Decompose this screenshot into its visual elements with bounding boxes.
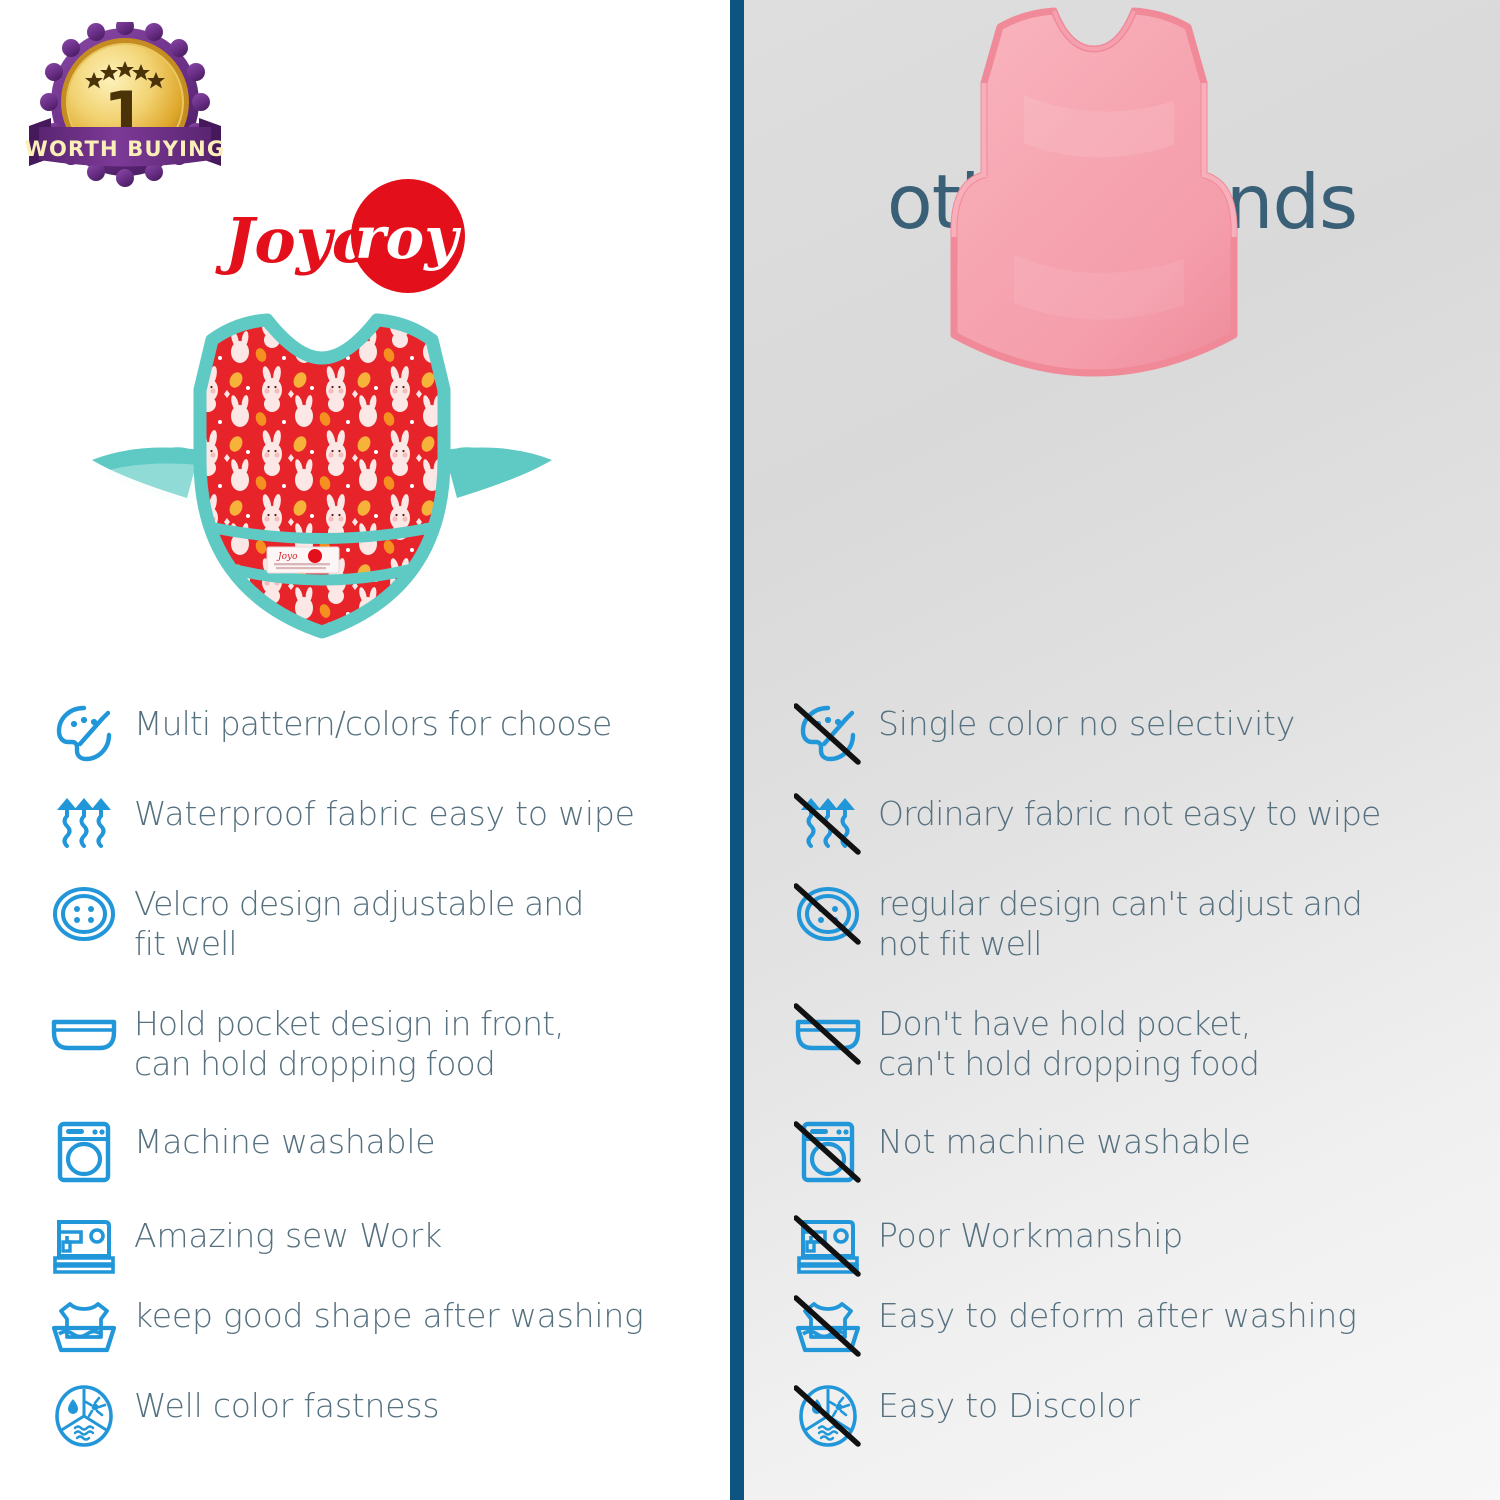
feature-label: Easy to deform after washing [878, 1292, 1357, 1336]
sewing-machine-icon [50, 1212, 118, 1280]
feature-label: Don't have hold pocket, can't hold dropp… [878, 1000, 1259, 1085]
feature-label: Velcro design adjustable and fit well [134, 880, 583, 965]
washing-machine-icon [50, 1118, 118, 1186]
feature-row: Poor Workmanship [794, 1212, 1486, 1280]
feature-label: Not machine washable [878, 1118, 1251, 1162]
svg-text:Joyo: Joyo [276, 552, 298, 562]
pocket-tray-icon [794, 1000, 862, 1068]
feature-row: Velcro design adjustable and fit well [50, 880, 716, 965]
feature-row: Single color no selectivity [794, 700, 1486, 768]
feature-label: Hold pocket design in front, can hold dr… [134, 1000, 564, 1085]
joyo-roy-logo: Joyo roy [215, 178, 470, 298]
feature-row: Well color fastness [50, 1382, 716, 1450]
color-fastness-icon [50, 1382, 118, 1450]
feature-row: Amazing sew Work [50, 1212, 716, 1280]
feature-label: Single color no selectivity [878, 700, 1295, 744]
sewing-machine-icon [794, 1212, 862, 1280]
button-velcro-icon [50, 880, 118, 948]
feature-label: Machine washable [134, 1118, 435, 1162]
feature-row: Ordinary fabric not easy to wipe [794, 790, 1486, 858]
shirt-in-basin-icon [794, 1292, 862, 1360]
pocket-tray-icon [50, 1000, 118, 1068]
bib-brand-label: Joyo [267, 547, 339, 573]
shirt-in-basin-icon [50, 1292, 118, 1360]
badge-ribbon-label: WORTH BUYING [25, 137, 225, 161]
feature-label: Easy to Discolor [878, 1382, 1140, 1426]
waterproof-steam-icon [794, 790, 862, 858]
logo-script-joyo: Joyo [215, 204, 373, 277]
feature-row: Hold pocket design in front, can hold dr… [50, 1000, 716, 1085]
feature-row: Multi pattern/colors for choose [50, 700, 716, 768]
feature-row: Don't have hold pocket, can't hold dropp… [794, 1000, 1486, 1085]
feature-label: Well color fastness [134, 1382, 439, 1426]
feature-row: Easy to Discolor [794, 1382, 1486, 1450]
feature-row: Easy to deform after washing [794, 1292, 1486, 1360]
washing-machine-icon [794, 1118, 862, 1186]
feature-label: Poor Workmanship [878, 1212, 1183, 1256]
feature-row: keep good shape after washing [50, 1292, 716, 1360]
product-image-other-brand-bib [904, 5, 1284, 405]
waterproof-steam-icon [50, 790, 118, 858]
feature-label: Multi pattern/colors for choose [134, 700, 611, 744]
logo-script-roy: roy [355, 204, 462, 272]
feature-label: Ordinary fabric not easy to wipe [878, 790, 1380, 834]
feature-label: keep good shape after washing [134, 1292, 644, 1336]
feature-label: Amazing sew Work [134, 1212, 442, 1256]
worth-buying-badge: 1 WORTH BUYING [25, 22, 225, 187]
comparison-infographic: 1 WORTH BUYING Joyo roy [0, 0, 1500, 1500]
button-velcro-icon [794, 880, 862, 948]
left-panel-joyo-roy: 1 WORTH BUYING Joyo roy [0, 0, 730, 1500]
palette-icon [50, 700, 118, 768]
pink-bib-body [954, 11, 1234, 373]
feature-row: Not machine washable [794, 1118, 1486, 1186]
feature-label: Waterproof fabric easy to wipe [134, 790, 635, 834]
feature-label: regular design can't adjust and not fit … [878, 880, 1362, 965]
feature-row: Machine washable [50, 1118, 716, 1186]
panel-divider [730, 0, 744, 1500]
feature-row: Waterproof fabric easy to wipe [50, 790, 716, 858]
feature-row: regular design can't adjust and not fit … [794, 880, 1486, 965]
product-image-joyo-roy-bib: Joyo [62, 300, 582, 680]
color-fastness-icon [794, 1382, 862, 1450]
right-panel-other-brands: other brands [744, 0, 1500, 1500]
palette-icon [794, 700, 862, 768]
